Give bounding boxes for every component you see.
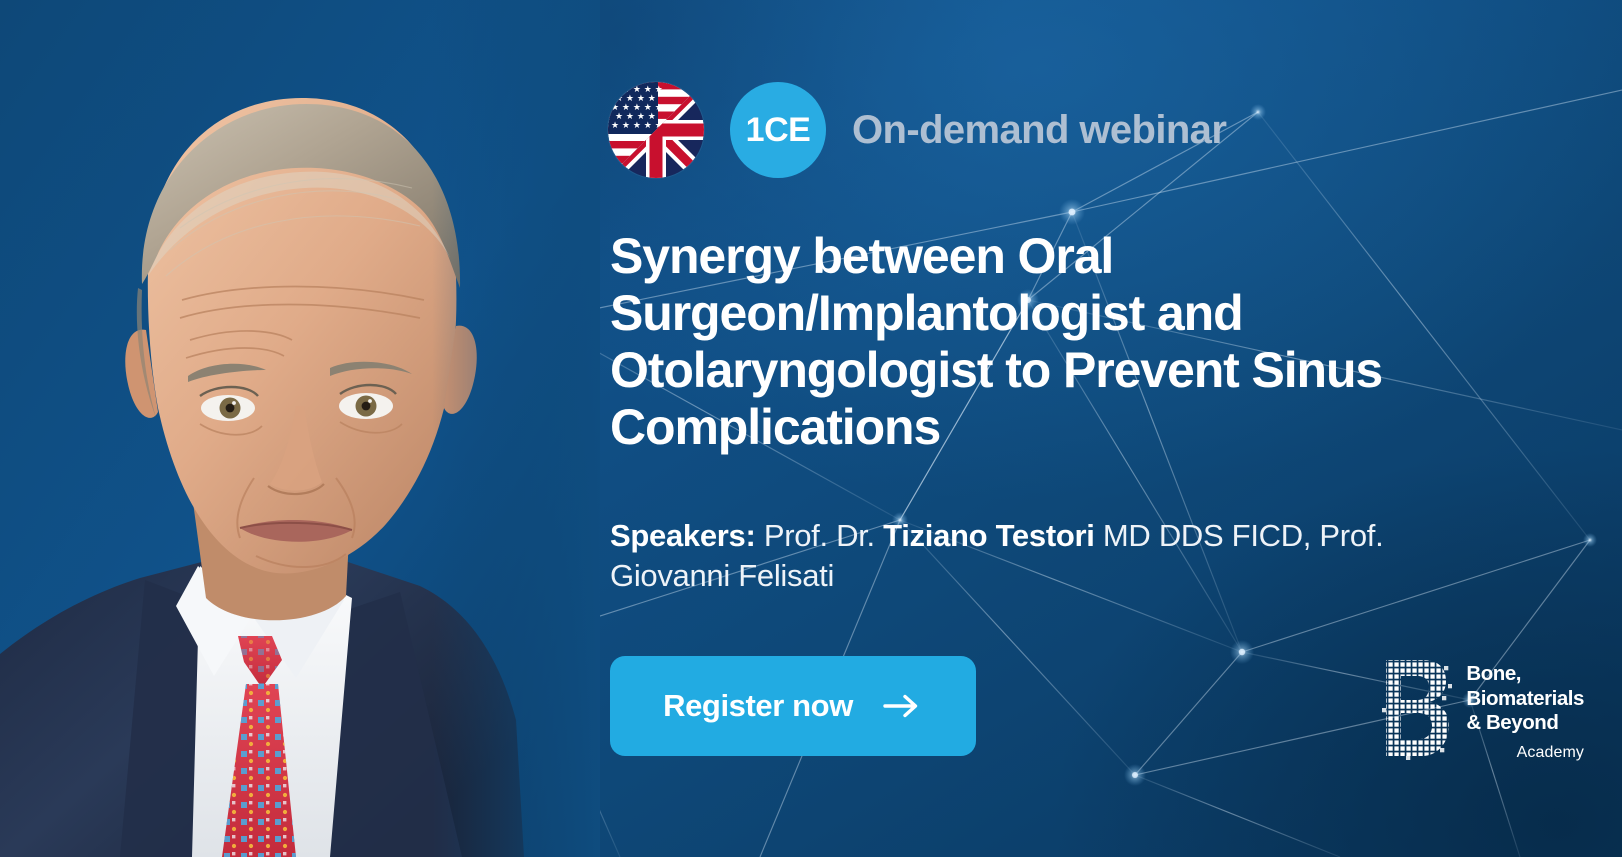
- speaker-portrait-photo: [0, 0, 600, 857]
- ce-credit-badge: 1CE: [730, 82, 826, 178]
- ce-credit-label: 1CE: [746, 111, 811, 150]
- webinar-title: Synergy between Oral Surgeon/Implantolog…: [610, 228, 1490, 456]
- logo-line-2: Biomaterials: [1466, 687, 1584, 712]
- logo-line-1: Bone,: [1466, 662, 1584, 687]
- dotted-b-logo-icon: [1382, 656, 1452, 765]
- register-now-button[interactable]: Register now: [610, 656, 976, 756]
- badge-row: ★ ★ ★ ★ ★ ★ ★ ★ ★ ★ ★ ★ ★ ★ ★ ★ ★ ★ ★ ★ …: [608, 82, 1226, 178]
- logo-subtitle: Academy: [1466, 744, 1584, 762]
- arrow-right-icon: [883, 693, 923, 719]
- webinar-format-label: On-demand webinar: [852, 108, 1226, 153]
- speaker-1-name: Tiziano Testori: [883, 518, 1094, 553]
- svg-text:★ ★ ★ ★ ★: ★ ★ ★ ★ ★: [611, 121, 663, 131]
- bone-biomaterials-beyond-academy-logo: Bone, Biomaterials & Beyond Academy: [1382, 656, 1584, 765]
- logo-line-3: & Beyond: [1466, 711, 1584, 736]
- speakers-line: Speakers: Prof. Dr. Tiziano Testori MD D…: [610, 516, 1500, 597]
- register-now-label: Register now: [663, 688, 853, 724]
- webinar-promo-banner: ★ ★ ★ ★ ★ ★ ★ ★ ★ ★ ★ ★ ★ ★ ★ ★ ★ ★ ★ ★ …: [0, 0, 1622, 857]
- speakers-prefix: Speakers:: [610, 518, 756, 553]
- speaker-1-prefix: Prof. Dr.: [764, 518, 875, 553]
- logo-wordmark: Bone, Biomaterials & Beyond Academy: [1466, 656, 1584, 762]
- us-uk-flag-icon: ★ ★ ★ ★ ★ ★ ★ ★ ★ ★ ★ ★ ★ ★ ★ ★ ★ ★ ★ ★ …: [608, 82, 704, 178]
